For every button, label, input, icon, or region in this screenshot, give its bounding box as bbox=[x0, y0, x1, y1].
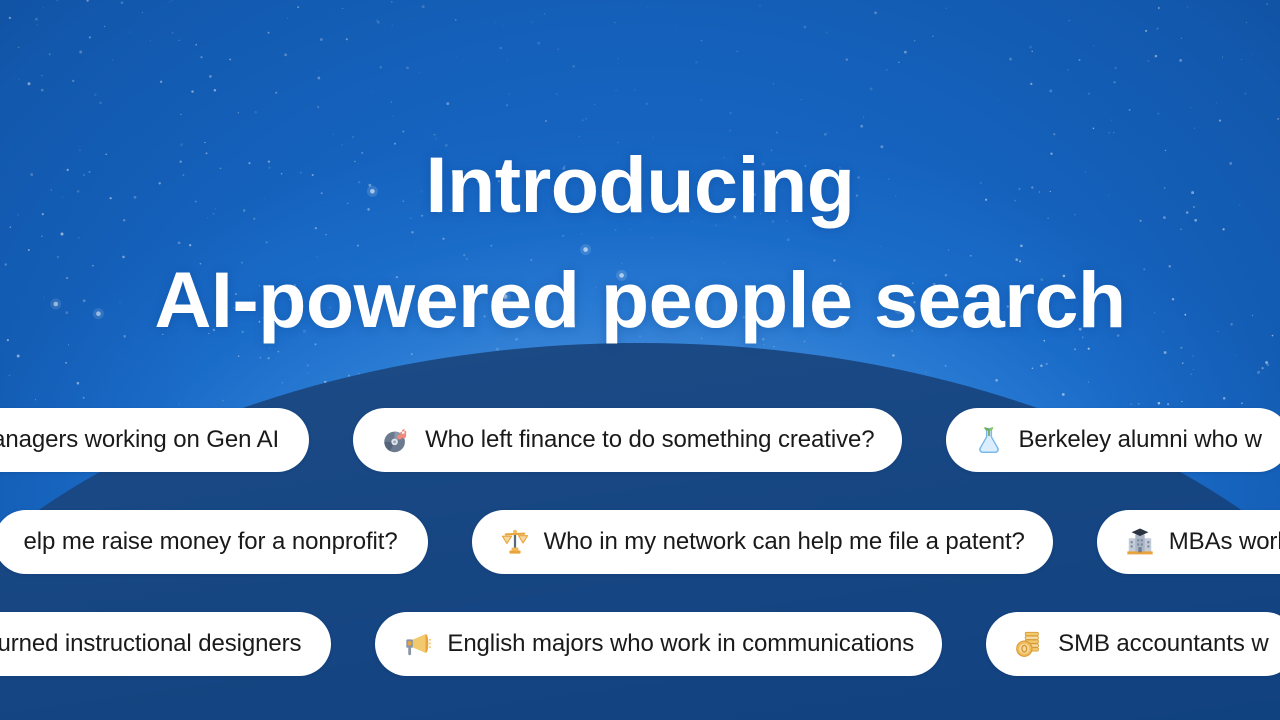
promo-banner: Introducing AI-powered people search Man… bbox=[0, 0, 1280, 720]
suggestion-pill-label: English majors who work in communication… bbox=[447, 632, 914, 656]
balance-scales-icon bbox=[500, 527, 530, 557]
pill-row: elp me raise money for a nonprofit?Who i… bbox=[18, 510, 1280, 574]
suggestion-pill[interactable]: Who left finance to do something creativ… bbox=[353, 408, 902, 472]
suggestion-pill[interactable]: Managers working on Gen AI bbox=[0, 408, 309, 472]
suggestion-pill[interactable]: Berkeley alumni who w bbox=[946, 408, 1280, 472]
suggestion-pill-label: urned instructional designers bbox=[0, 632, 301, 656]
coin-stack-icon bbox=[1014, 629, 1044, 659]
suggestion-pill-label: Who left finance to do something creativ… bbox=[425, 428, 874, 452]
page-title: Introducing AI-powered people search bbox=[0, 127, 1280, 358]
suggestion-pill-label: Who in my network can help me file a pat… bbox=[544, 530, 1025, 554]
suggestion-pill-label: Berkeley alumni who w bbox=[1018, 428, 1261, 452]
suggestion-pill-label: MBAs worki bbox=[1169, 530, 1280, 554]
headline-line-2: AI-powered people search bbox=[0, 242, 1280, 357]
flask-sprout-icon bbox=[974, 425, 1004, 455]
pill-row: urned instructional designersEnglish maj… bbox=[0, 612, 1272, 676]
suggestion-pill[interactable]: SMB accountants w bbox=[986, 612, 1280, 676]
suggestion-pill[interactable]: elp me raise money for a nonprofit? bbox=[0, 510, 428, 574]
suggestion-pill-label: elp me raise money for a nonprofit? bbox=[24, 530, 398, 554]
pill-row: Managers working on Gen AIWho left finan… bbox=[0, 408, 1256, 472]
suggestion-pill[interactable]: English majors who work in communication… bbox=[375, 612, 942, 676]
suggestion-pill[interactable]: urned instructional designers bbox=[0, 612, 331, 676]
suggestion-pill-label: Managers working on Gen AI bbox=[0, 428, 279, 452]
suggestion-pill[interactable]: Who in my network can help me file a pat… bbox=[472, 510, 1053, 574]
megaphone-icon bbox=[403, 629, 433, 659]
suggestion-pill[interactable]: MBAs worki bbox=[1097, 510, 1280, 574]
headline-line-1: Introducing bbox=[0, 127, 1280, 242]
suggestion-pill-label: SMB accountants w bbox=[1058, 632, 1268, 656]
university-icon bbox=[1125, 527, 1155, 557]
cd-music-icon bbox=[381, 425, 411, 455]
suggestion-pill-rows: Managers working on Gen AIWho left finan… bbox=[0, 408, 1280, 714]
